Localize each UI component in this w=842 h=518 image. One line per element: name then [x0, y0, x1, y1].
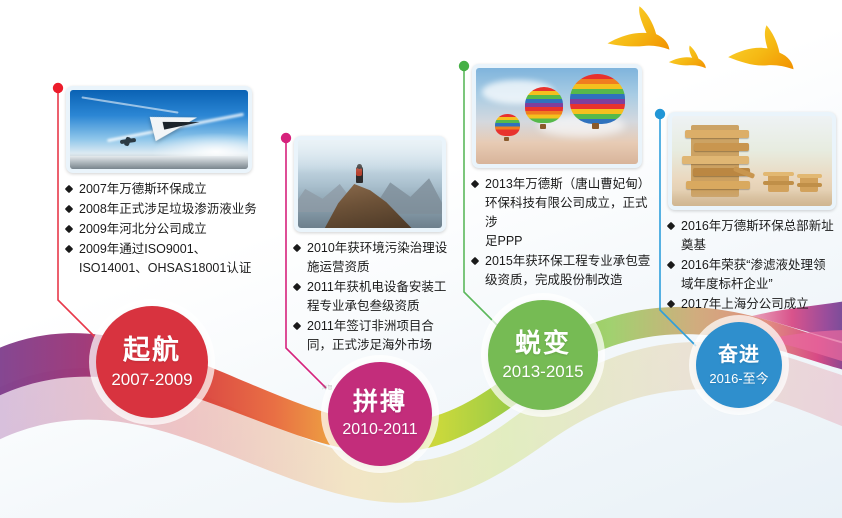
diamond-bullet-icon	[668, 256, 677, 275]
connector-dot-col-1	[53, 83, 63, 93]
list-item: 2017年上海分公司成立	[668, 295, 840, 314]
list-item: 2008年正式涉足垃圾渗沥液业务	[66, 200, 262, 219]
list-item: 2009年通过ISO9001、 ISO14001、OHSAS18001认证	[66, 240, 262, 278]
milestone-badge-3[interactable]: 蜕变 2013-2015	[488, 300, 598, 410]
badge-title: 蜕变	[515, 330, 571, 356]
badge-years: 2007-2009	[111, 371, 192, 388]
diamond-bullet-icon	[294, 278, 303, 297]
badge-title: 奋进	[718, 345, 760, 365]
diamond-bullet-icon	[66, 200, 75, 219]
timeline-column-4: 2016年万德斯环保总部新址 奠基 2016年荣获“渗滤液处理领 域年度标杆企业…	[668, 112, 840, 315]
list-item: 2011年获机电设备安装工 程专业承包叁级资质	[294, 278, 460, 316]
diamond-bullet-icon	[294, 239, 303, 258]
badge-title: 拼搏	[353, 390, 407, 415]
timeline-column-2: 2010年获环境污染治理设 施运营资质 2011年获机电设备安装工 程专业承包叁…	[294, 136, 460, 356]
mountain-summit-hiker-photo	[298, 140, 442, 228]
diamond-bullet-icon	[668, 217, 677, 236]
diamond-bullet-icon	[66, 240, 75, 259]
connector-dot-col-3	[459, 61, 469, 71]
milestone-badge-4[interactable]: 奋进 2016-至今	[696, 322, 782, 408]
diamond-bullet-icon	[472, 175, 481, 194]
photo-frame-1	[66, 86, 252, 173]
bird-small-center-icon	[668, 45, 706, 70]
bird-large-right-icon	[726, 23, 794, 75]
wooden-blocks-tower-photo	[672, 116, 832, 206]
paper-plane-sky-photo	[70, 90, 248, 169]
diamond-bullet-icon	[66, 220, 75, 239]
list-item: 2015年获环保工程专业承包壹 级资质，完成股份制改造	[472, 252, 654, 290]
bullet-list-2: 2010年获环境污染治理设 施运营资质 2011年获机电设备安装工 程专业承包叁…	[294, 239, 460, 355]
diamond-bullet-icon	[66, 180, 75, 199]
diamond-bullet-icon	[294, 317, 303, 336]
bullet-list-3: 2013年万德斯（唐山曹妃甸） 环保科技有限公司成立，正式涉 足PPP 2015…	[472, 175, 654, 290]
photo-frame-3	[472, 64, 642, 168]
photo-frame-4	[668, 112, 836, 210]
photo-frame-2	[294, 136, 446, 232]
timeline-infographic: 2007年万德斯环保成立 2008年正式涉足垃圾渗沥液业务 2009年河北分公司…	[0, 0, 842, 518]
list-item: 2009年河北分公司成立	[66, 220, 262, 239]
watermark: 海智	[322, 384, 333, 391]
bird-large-left-icon	[604, 4, 669, 56]
timeline-column-3: 2013年万德斯（唐山曹妃甸） 环保科技有限公司成立，正式涉 足PPP 2015…	[472, 64, 654, 291]
list-item: 2016年荣获“渗滤液处理领 域年度标杆企业”	[668, 256, 840, 294]
connector-dot-col-2	[281, 133, 291, 143]
diamond-bullet-icon	[472, 252, 481, 271]
diamond-bullet-icon	[668, 295, 677, 314]
milestone-badge-2[interactable]: 拼搏 2010-2011	[328, 362, 432, 466]
badge-years: 2013-2015	[502, 363, 583, 380]
list-item: 2016年万德斯环保总部新址 奠基	[668, 217, 840, 255]
connector-dot-col-4	[655, 109, 665, 119]
milestone-badge-1[interactable]: 起航 2007-2009	[96, 306, 208, 418]
timeline-column-1: 2007年万德斯环保成立 2008年正式涉足垃圾渗沥液业务 2009年河北分公司…	[66, 86, 262, 279]
badge-years: 2016-至今	[709, 372, 768, 385]
bullet-list-1: 2007年万德斯环保成立 2008年正式涉足垃圾渗沥液业务 2009年河北分公司…	[66, 180, 262, 278]
list-item: 2011年签订非洲项目合 同，正式涉足海外市场	[294, 317, 460, 355]
badge-years: 2010-2011	[342, 422, 417, 438]
hot-air-balloons-photo	[476, 68, 638, 164]
list-item: 2013年万德斯（唐山曹妃甸） 环保科技有限公司成立，正式涉 足PPP	[472, 175, 654, 251]
list-item: 2007年万德斯环保成立	[66, 180, 262, 199]
bullet-list-4: 2016年万德斯环保总部新址 奠基 2016年荣获“渗滤液处理领 域年度标杆企业…	[668, 217, 840, 314]
list-item: 2010年获环境污染治理设 施运营资质	[294, 239, 460, 277]
badge-title: 起航	[123, 337, 181, 364]
